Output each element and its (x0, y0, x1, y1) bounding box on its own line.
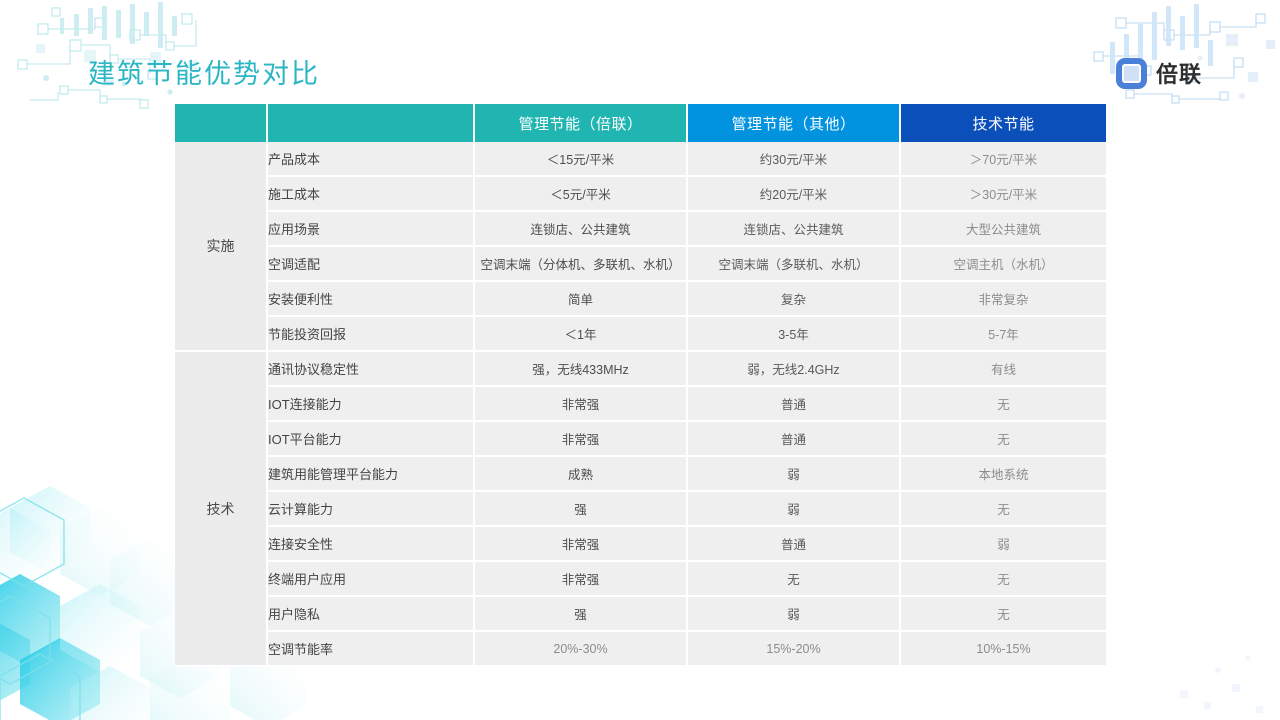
table-row: 空调适配 空调末端（分体机、多联机、水机） 空调末端（多联机、水机） 空调主机（… (175, 247, 1106, 282)
row-label: 产品成本 (268, 142, 475, 177)
comparison-table: 管理节能（倍联） 管理节能（其他） 技术节能 实施 产品成本 ＜15元/平米 约… (175, 104, 1106, 667)
row-label: 通讯协议稳定性 (268, 352, 475, 387)
row-label: 终端用户应用 (268, 562, 475, 597)
table-header-cell-empty-2 (268, 104, 475, 142)
table-header-cell-beilian: 管理节能（倍联） (475, 104, 688, 142)
table-row: 用户隐私 强 弱 无 (175, 597, 1106, 632)
cell-technology: 无 (901, 562, 1106, 597)
table-header-row: 管理节能（倍联） 管理节能（其他） 技术节能 (175, 104, 1106, 142)
table-header-cell-empty-1 (175, 104, 268, 142)
cell-other: 弱，无线2.4GHz (688, 352, 901, 387)
cell-technology: 无 (901, 422, 1106, 457)
table-header-cell-other: 管理节能（其他） (688, 104, 901, 142)
row-label: IOT连接能力 (268, 387, 475, 422)
cell-technology: 无 (901, 597, 1106, 632)
table-row: 节能投资回报 ＜1年 3-5年 5-7年 (175, 317, 1106, 352)
cell-other: 弱 (688, 457, 901, 492)
table-row: IOT平台能力 非常强 普通 无 (175, 422, 1106, 457)
cell-beilian: 空调末端（分体机、多联机、水机） (475, 247, 688, 282)
cell-other: 15%-20% (688, 632, 901, 667)
rounded-square-logo-icon (1116, 58, 1147, 89)
table-header: 管理节能（倍联） 管理节能（其他） 技术节能 (175, 104, 1106, 142)
page-title: 建筑节能优势对比 (88, 52, 320, 91)
brand-name: 倍联 (1156, 57, 1202, 89)
cell-beilian: 非常强 (475, 527, 688, 562)
cell-beilian: ＜5元/平米 (475, 177, 688, 212)
table-row: 安装便利性 简单 复杂 非常复杂 (175, 282, 1106, 317)
cell-technology: 非常复杂 (901, 282, 1106, 317)
cell-technology: 本地系统 (901, 457, 1106, 492)
cell-beilian: 简单 (475, 282, 688, 317)
cell-beilian: 连锁店、公共建筑 (475, 212, 688, 247)
cell-technology: 5-7年 (901, 317, 1106, 352)
table-row: 终端用户应用 非常强 无 无 (175, 562, 1106, 597)
cell-other: 弱 (688, 597, 901, 632)
row-label: 节能投资回报 (268, 317, 475, 352)
cell-technology: 有线 (901, 352, 1106, 387)
cell-beilian: ＜15元/平米 (475, 142, 688, 177)
cell-other: 普通 (688, 387, 901, 422)
cell-beilian: 非常强 (475, 387, 688, 422)
cell-technology: ＞30元/平米 (901, 177, 1106, 212)
circuit-pattern-top-right-icon (1080, 0, 1280, 110)
table-row: 云计算能力 强 弱 无 (175, 492, 1106, 527)
cell-other: 普通 (688, 422, 901, 457)
cell-beilian: 强，无线433MHz (475, 352, 688, 387)
table-row: 技术 通讯协议稳定性 强，无线433MHz 弱，无线2.4GHz 有线 (175, 352, 1106, 387)
cell-other: 约30元/平米 (688, 142, 901, 177)
cell-beilian: 20%-30% (475, 632, 688, 667)
table-row: 应用场景 连锁店、公共建筑 连锁店、公共建筑 大型公共建筑 (175, 212, 1106, 247)
cell-technology: 弱 (901, 527, 1106, 562)
cell-other: 约20元/平米 (688, 177, 901, 212)
row-label: 安装便利性 (268, 282, 475, 317)
table-row: 实施 产品成本 ＜15元/平米 约30元/平米 ＞70元/平米 (175, 142, 1106, 177)
cell-beilian: 强 (475, 597, 688, 632)
table-row: IOT连接能力 非常强 普通 无 (175, 387, 1106, 422)
row-label: 连接安全性 (268, 527, 475, 562)
cell-technology: 无 (901, 387, 1106, 422)
table-body: 实施 产品成本 ＜15元/平米 约30元/平米 ＞70元/平米 施工成本 ＜5元… (175, 142, 1106, 667)
cell-beilian: ＜1年 (475, 317, 688, 352)
cell-other: 普通 (688, 527, 901, 562)
cell-technology: 大型公共建筑 (901, 212, 1106, 247)
cell-technology: 空调主机（水机） (901, 247, 1106, 282)
table-row: 建筑用能管理平台能力 成熟 弱 本地系统 (175, 457, 1106, 492)
cell-other: 连锁店、公共建筑 (688, 212, 901, 247)
cell-beilian: 非常强 (475, 562, 688, 597)
brand-logo: 倍联 (1116, 57, 1202, 89)
cell-technology: 10%-15% (901, 632, 1106, 667)
row-label: 用户隐私 (268, 597, 475, 632)
cell-technology: 无 (901, 492, 1106, 527)
row-label: 空调适配 (268, 247, 475, 282)
dot-pattern-bottom-right-icon (1160, 630, 1280, 720)
table-row: 施工成本 ＜5元/平米 约20元/平米 ＞30元/平米 (175, 177, 1106, 212)
cell-other: 弱 (688, 492, 901, 527)
table-header-cell-technology: 技术节能 (901, 104, 1106, 142)
cell-other: 空调末端（多联机、水机） (688, 247, 901, 282)
row-label: 建筑用能管理平台能力 (268, 457, 475, 492)
group-label-technology: 技术 (175, 352, 268, 667)
row-label: 空调节能率 (268, 632, 475, 667)
cell-beilian: 强 (475, 492, 688, 527)
row-label: 施工成本 (268, 177, 475, 212)
row-label: 应用场景 (268, 212, 475, 247)
cell-beilian: 非常强 (475, 422, 688, 457)
table-row: 空调节能率 20%-30% 15%-20% 10%-15% (175, 632, 1106, 667)
cell-other: 复杂 (688, 282, 901, 317)
row-label: IOT平台能力 (268, 422, 475, 457)
cell-other: 3-5年 (688, 317, 901, 352)
group-label-implementation: 实施 (175, 142, 268, 352)
row-label: 云计算能力 (268, 492, 475, 527)
cell-beilian: 成熟 (475, 457, 688, 492)
cell-other: 无 (688, 562, 901, 597)
table-row: 连接安全性 非常强 普通 弱 (175, 527, 1106, 562)
cell-technology: ＞70元/平米 (901, 142, 1106, 177)
